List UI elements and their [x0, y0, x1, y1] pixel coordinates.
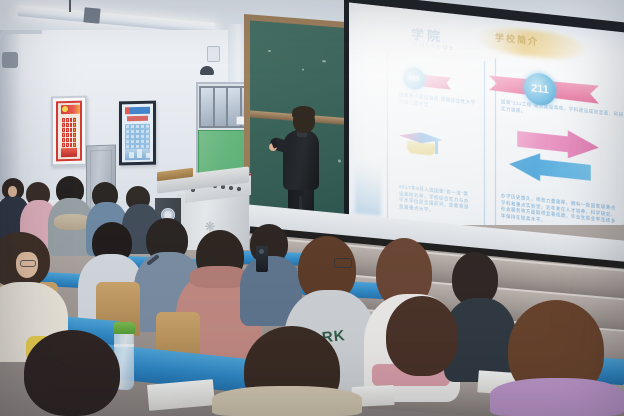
poster-character-cell [73, 118, 76, 122]
control-button[interactable] [229, 186, 233, 190]
poster-red-inner [56, 101, 82, 162]
ceiling-mount-rod [69, 0, 71, 12]
eyeglasses-icon [20, 260, 36, 267]
student-face [8, 186, 17, 197]
poster-building-icon [129, 152, 134, 158]
poster-table-cell [140, 124, 145, 129]
poster-table-cell [130, 129, 135, 134]
poster-character-cell [62, 128, 65, 132]
poster-blue-subtitle-bar [127, 116, 148, 121]
poster-table-cell [135, 134, 140, 139]
control-button[interactable] [237, 187, 241, 191]
poster-table-cell [145, 124, 150, 129]
poster-table-cell [130, 134, 135, 139]
poster-red-character-grid [62, 118, 76, 147]
projector-mount-head [2, 52, 18, 68]
graduation-cap-icon [397, 126, 445, 163]
poster-character-cell [66, 133, 69, 137]
poster-building-icon [137, 149, 142, 158]
poster-character-cell [73, 143, 76, 147]
presenter-hair [292, 106, 315, 119]
poster-table-cell [125, 124, 130, 129]
poster-table-cell [135, 139, 140, 144]
poster-table-cell [145, 129, 150, 134]
camera-junction-box [207, 46, 220, 62]
poster-table-cell [145, 139, 150, 144]
chalk-speck [322, 60, 326, 62]
poster-blue-footer-image [125, 149, 150, 161]
poster-character-cell [66, 128, 69, 132]
eyeglasses-icon [334, 258, 352, 268]
poster-character-cell [66, 138, 69, 142]
poster-character-cell [73, 133, 76, 137]
poster-character-cell [73, 138, 76, 142]
poster-table-cell [125, 129, 130, 134]
student-head [386, 296, 458, 376]
poster-table-cell [140, 134, 145, 139]
student-head-foreground [24, 330, 120, 416]
poster-red-footer [61, 148, 77, 157]
ceiling-mount-bracket [83, 7, 100, 23]
poster-table-cell [135, 129, 140, 134]
poster-character-cell [62, 143, 65, 147]
poster-character-cell [73, 128, 76, 132]
slide-edge-graphic [355, 161, 381, 216]
class-schedule-poster [119, 101, 156, 166]
security-dome-camera [200, 66, 214, 75]
bottle-highlight [114, 344, 134, 347]
student-torso [490, 378, 624, 416]
phone-camera-lens-icon [259, 249, 264, 254]
poster-character-cell [70, 123, 73, 127]
chalk-speck [302, 69, 304, 71]
slide-title-subtitle: COLLEGE [413, 41, 455, 52]
poster-character-cell [70, 143, 73, 147]
poster-character-cell [70, 128, 73, 132]
chalk-speck [338, 159, 341, 162]
poster-character-cell [66, 123, 69, 127]
poster-table-cell [140, 129, 145, 134]
student-torso-tan [212, 386, 362, 416]
fur-hood-trim [54, 214, 90, 230]
poster-table-cell [125, 139, 130, 144]
poster-table-cell [130, 139, 135, 144]
poster-character-cell [70, 138, 73, 142]
core-values-poster [51, 96, 87, 167]
poster-table-cell [140, 139, 145, 144]
classroom-photo: 学校简介 学院 COLLEGE 985 国家重点建设高校 部属综合性大学 学科门… [0, 0, 624, 416]
poster-character-cell [70, 133, 73, 137]
poster-character-cell [62, 123, 65, 127]
cap-tassel [435, 140, 438, 154]
window-pane [201, 88, 215, 126]
poster-table-cell [130, 124, 135, 129]
poster-character-cell [62, 133, 65, 137]
poster-blue-title-bar [125, 107, 150, 115]
poster-character-cell [73, 123, 76, 127]
presenter-torso-jacket [283, 130, 319, 190]
poster-table-cell [125, 134, 130, 139]
window-pane [215, 88, 229, 126]
poster-character-cell [66, 143, 69, 147]
poster-character-cell [70, 118, 73, 122]
poster-character-cell [66, 118, 69, 122]
poster-table-cell [135, 124, 140, 129]
poster-character-cell [62, 118, 65, 122]
chalk-speck [268, 50, 271, 52]
poster-table-cell [145, 134, 150, 139]
poster-building-icon [146, 153, 151, 158]
poster-character-cell [62, 138, 65, 142]
bottle-cap [113, 322, 135, 334]
